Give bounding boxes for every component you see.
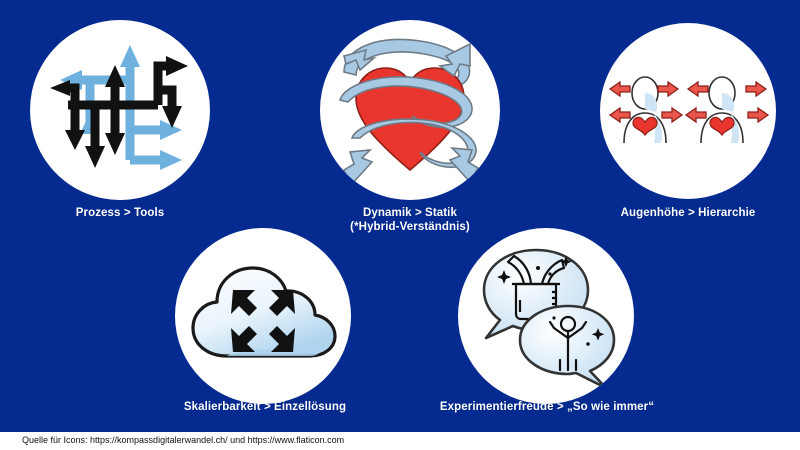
slide-canvas: Prozess > Tools xyxy=(0,0,800,450)
cloud-shape xyxy=(193,268,335,356)
icon-circle-augenhoehe xyxy=(600,23,776,199)
arrow-network-icon xyxy=(30,20,210,200)
caption-skalierbarkeit: Skalierbarkeit > Einzellösung xyxy=(150,400,380,414)
caption-dynamik: Dynamik > Statik (*Hybrid-Verständnis) xyxy=(320,206,500,234)
heart-right xyxy=(710,117,734,135)
icon-circle-skalierbarkeit xyxy=(175,228,351,404)
heart-left xyxy=(633,117,657,135)
icon-circle-prozess xyxy=(30,20,210,200)
icon-circle-experimentierfreude xyxy=(458,228,634,404)
caption-augenhoehe: Augenhöhe > Hierarchie xyxy=(588,206,788,220)
speech-bubbles-experiment-icon xyxy=(458,228,634,404)
footer-bar: Quelle für Icons: https://kompassdigital… xyxy=(0,432,800,450)
two-people-hearts-icon xyxy=(600,23,776,199)
icon-circle-dynamik xyxy=(320,20,500,200)
cloud-expand-icon xyxy=(175,228,351,404)
caption-prozess: Prozess > Tools xyxy=(30,206,210,220)
caption-experimentierfreude: Experimentierfreude > „So wie immer“ xyxy=(412,400,682,414)
footer-source-text: Quelle für Icons: https://kompassdigital… xyxy=(22,435,344,445)
heart-spiral-arrows-icon xyxy=(320,20,500,200)
